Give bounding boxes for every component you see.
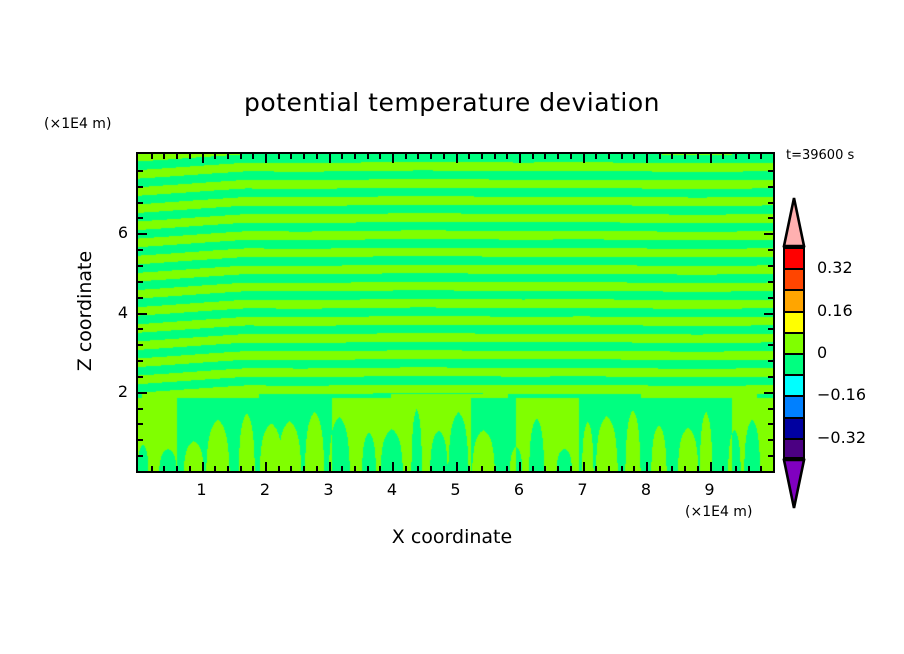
y-tick-right — [768, 170, 773, 172]
x-tick-top — [430, 154, 432, 159]
x-tick-bottom — [265, 462, 267, 471]
y-tick-left — [138, 170, 143, 172]
x-tick-top — [557, 154, 559, 159]
x-tick-bottom — [405, 466, 407, 471]
y-tick-label: 4 — [104, 303, 128, 322]
x-tick-bottom — [595, 466, 597, 471]
colorbar-band — [783, 374, 805, 395]
colorbar-tick-label: 0.16 — [817, 301, 853, 320]
x-tick-top — [697, 154, 699, 159]
colorbar-band — [783, 417, 805, 438]
x-tick-bottom — [468, 466, 470, 471]
x-tick-top — [633, 154, 635, 159]
x-tick-top — [329, 154, 331, 163]
y-tick-left — [138, 455, 143, 457]
y-tick-right — [768, 408, 773, 410]
x-tick-top — [468, 154, 470, 159]
y-tick-left — [138, 265, 143, 267]
timestamp-label: t=39600 s — [786, 148, 854, 163]
x-tick-top — [443, 154, 445, 159]
y-tick-right — [764, 313, 773, 315]
x-tick-top — [646, 154, 648, 163]
colorbar-band — [783, 438, 805, 459]
y-tick-left — [138, 328, 143, 330]
x-tick-top — [189, 154, 191, 159]
x-tick-top — [595, 154, 597, 159]
x-tick-bottom — [341, 466, 343, 471]
colorbar-band — [783, 247, 805, 268]
x-tick-top — [303, 154, 305, 159]
contour-plot-area — [136, 152, 775, 473]
colorbar-tick-label: −0.16 — [817, 385, 866, 404]
x-tick-label: 6 — [507, 480, 531, 499]
y-tick-left — [138, 423, 143, 425]
x-tick-bottom — [278, 466, 280, 471]
x-tick-top — [519, 154, 521, 163]
y-axis-title: Z coordinate — [74, 221, 96, 401]
x-tick-bottom — [671, 466, 673, 471]
x-tick-top — [417, 154, 419, 159]
x-tick-bottom — [570, 466, 572, 471]
y-tick-right — [768, 297, 773, 299]
y-tick-left — [138, 202, 143, 204]
x-tick-bottom — [621, 466, 623, 471]
x-tick-top — [722, 154, 724, 159]
x-tick-bottom — [608, 466, 610, 471]
y-tick-right — [768, 265, 773, 267]
x-tick-label: 1 — [190, 480, 214, 499]
y-tick-left — [138, 313, 147, 315]
contour-field — [138, 154, 773, 471]
x-tick-top — [227, 154, 229, 159]
y-tick-left — [138, 297, 143, 299]
x-tick-bottom — [252, 466, 254, 471]
x-tick-bottom — [163, 466, 165, 471]
y-tick-right — [768, 186, 773, 188]
x-tick-bottom — [354, 466, 356, 471]
x-tick-top — [290, 154, 292, 159]
colorbar-band — [783, 332, 805, 353]
x-tick-bottom — [367, 466, 369, 471]
x-tick-bottom — [316, 466, 318, 471]
x-tick-bottom — [189, 466, 191, 471]
page-title: potential temperature deviation — [0, 88, 904, 117]
x-tick-bottom — [481, 466, 483, 471]
x-tick-top — [544, 154, 546, 159]
colorbar — [783, 247, 805, 459]
x-tick-top — [265, 154, 267, 163]
x-tick-bottom — [722, 466, 724, 471]
x-tick-bottom — [240, 466, 242, 471]
colorbar-band — [783, 311, 805, 332]
y-tick-right — [768, 202, 773, 204]
x-tick-bottom — [329, 462, 331, 471]
x-tick-top — [354, 154, 356, 159]
x-tick-label: 3 — [317, 480, 341, 499]
y-tick-left — [138, 392, 147, 394]
colorbar-band — [783, 353, 805, 374]
y-tick-right — [768, 439, 773, 441]
x-tick-top — [151, 154, 153, 159]
x-tick-top — [316, 154, 318, 159]
x-tick-bottom — [684, 466, 686, 471]
x-tick-bottom — [494, 466, 496, 471]
x-tick-bottom — [176, 466, 178, 471]
x-tick-bottom — [646, 462, 648, 471]
x-tick-label: 8 — [634, 480, 658, 499]
y-tick-left — [138, 281, 143, 283]
y-tick-right — [768, 328, 773, 330]
y-tick-right — [768, 376, 773, 378]
x-tick-top — [278, 154, 280, 159]
x-tick-top — [532, 154, 534, 159]
colorbar-band — [783, 395, 805, 416]
x-tick-bottom — [430, 466, 432, 471]
y-tick-left — [138, 408, 143, 410]
x-tick-top — [570, 154, 572, 159]
y-tick-right — [768, 344, 773, 346]
colorbar-band — [783, 268, 805, 289]
x-tick-top — [379, 154, 381, 159]
x-tick-top — [735, 154, 737, 159]
y-tick-left — [138, 360, 143, 362]
x-tick-bottom — [151, 466, 153, 471]
x-tick-top — [684, 154, 686, 159]
x-tick-top — [202, 154, 204, 163]
x-tick-top — [583, 154, 585, 163]
x-tick-label: 4 — [380, 480, 404, 499]
x-tick-bottom — [379, 466, 381, 471]
x-tick-top — [176, 154, 178, 159]
x-tick-top — [494, 154, 496, 159]
x-axis-title: X coordinate — [0, 526, 904, 548]
y-tick-left — [138, 249, 143, 251]
x-tick-bottom — [519, 462, 521, 471]
x-tick-bottom — [583, 462, 585, 471]
y-tick-right — [764, 392, 773, 394]
y-tick-left — [138, 439, 143, 441]
colorbar-overflow-high-arrow — [782, 196, 806, 248]
x-tick-bottom — [303, 466, 305, 471]
x-tick-top — [659, 154, 661, 159]
y-tick-right — [768, 217, 773, 219]
x-tick-bottom — [735, 466, 737, 471]
y-tick-right — [764, 233, 773, 235]
x-tick-bottom — [633, 466, 635, 471]
x-tick-bottom — [532, 466, 534, 471]
x-axis-unit-label: (×1E4 m) — [685, 504, 752, 520]
y-tick-right — [768, 455, 773, 457]
x-tick-top — [621, 154, 623, 159]
y-tick-left — [138, 344, 143, 346]
x-tick-bottom — [659, 466, 661, 471]
x-tick-bottom — [214, 466, 216, 471]
y-tick-left — [138, 186, 143, 188]
x-tick-top — [506, 154, 508, 159]
x-tick-bottom — [417, 466, 419, 471]
x-tick-top — [240, 154, 242, 159]
y-tick-left — [138, 376, 143, 378]
colorbar-band — [783, 289, 805, 310]
x-tick-top — [456, 154, 458, 163]
x-tick-top — [405, 154, 407, 159]
y-tick-label: 6 — [104, 223, 128, 242]
y-tick-left — [138, 233, 147, 235]
x-tick-label: 9 — [698, 480, 722, 499]
x-tick-top — [671, 154, 673, 159]
x-tick-top — [748, 154, 750, 159]
x-tick-bottom — [544, 466, 546, 471]
x-tick-bottom — [506, 466, 508, 471]
x-tick-label: 5 — [444, 480, 468, 499]
x-tick-bottom — [697, 466, 699, 471]
x-tick-top — [214, 154, 216, 159]
x-tick-top — [760, 154, 762, 159]
y-tick-right — [768, 281, 773, 283]
x-tick-bottom — [557, 466, 559, 471]
y-tick-right — [768, 360, 773, 362]
x-tick-top — [367, 154, 369, 159]
x-tick-bottom — [202, 462, 204, 471]
x-tick-bottom — [443, 466, 445, 471]
y-tick-label: 2 — [104, 382, 128, 401]
x-tick-top — [608, 154, 610, 159]
y-tick-right — [768, 423, 773, 425]
y-tick-right — [768, 249, 773, 251]
x-tick-bottom — [290, 466, 292, 471]
x-tick-top — [252, 154, 254, 159]
colorbar-tick-label: −0.32 — [817, 428, 866, 447]
x-tick-bottom — [227, 466, 229, 471]
y-tick-left — [138, 217, 143, 219]
x-tick-top — [481, 154, 483, 159]
x-tick-bottom — [710, 462, 712, 471]
x-tick-top — [392, 154, 394, 163]
x-tick-top — [341, 154, 343, 159]
colorbar-tick-label: 0 — [817, 343, 827, 362]
x-tick-bottom — [456, 462, 458, 471]
colorbar-overflow-low-arrow — [782, 458, 806, 510]
x-tick-top — [163, 154, 165, 159]
colorbar-tick-label: 0.32 — [817, 258, 853, 277]
x-tick-bottom — [392, 462, 394, 471]
x-tick-label: 2 — [253, 480, 277, 499]
x-tick-label: 7 — [571, 480, 595, 499]
x-tick-bottom — [760, 466, 762, 471]
x-tick-top — [710, 154, 712, 163]
x-tick-bottom — [748, 466, 750, 471]
z-axis-unit-label: (×1E4 m) — [44, 116, 111, 132]
